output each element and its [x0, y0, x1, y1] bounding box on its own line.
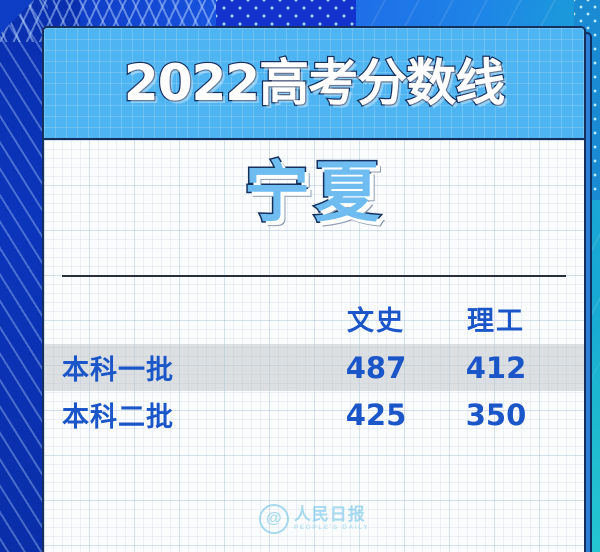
- watermark-name-cn: 人民日报: [294, 507, 369, 525]
- card-header-band: 2022高考分数线: [44, 28, 584, 140]
- background-chevron-stripes-left: [0, 0, 48, 552]
- column-header-science: 理工: [436, 299, 556, 338]
- watermark-text: 人民日报 PEOPLE'S DAILY: [294, 507, 369, 532]
- row-label-batch-two: 本科二批: [44, 395, 316, 434]
- watermark-name-en: PEOPLE'S DAILY: [294, 525, 369, 532]
- watermark: @ 人民日报 PEOPLE'S DAILY: [44, 504, 584, 534]
- column-header-liberal-arts: 文史: [316, 299, 436, 338]
- table-row: 本科二批 425 350: [44, 391, 584, 438]
- section-divider: [62, 275, 566, 277]
- table-row: 本科一批 487 412: [44, 344, 584, 391]
- score-table: 文史 理工 本科一批 487 412 本科二批 425 350: [44, 292, 584, 438]
- row-label-batch-one: 本科一批: [44, 348, 316, 387]
- score-batch-two-science: 350: [436, 398, 556, 432]
- score-batch-one-liberal-arts: 487: [316, 351, 436, 385]
- table-header-row: 文史 理工: [44, 292, 584, 344]
- poster-canvas: 2022高考分数线 宁夏 文史 理工 本科一批 487 412: [0, 0, 600, 552]
- score-batch-two-liberal-arts: 425: [316, 398, 436, 432]
- page-title: 2022高考分数线: [124, 58, 504, 108]
- score-batch-one-science: 412: [436, 351, 556, 385]
- province-name: 宁夏: [244, 154, 384, 231]
- card-body: 宁夏 文史 理工 本科一批 487 412 本科二批 425 350: [44, 140, 584, 552]
- province-name-wrap: 宁夏: [44, 160, 584, 226]
- poster-card: 2022高考分数线 宁夏 文史 理工 本科一批 487 412: [42, 26, 586, 552]
- at-sign-icon: @: [259, 504, 289, 534]
- background-corner-triangle: [0, 0, 34, 34]
